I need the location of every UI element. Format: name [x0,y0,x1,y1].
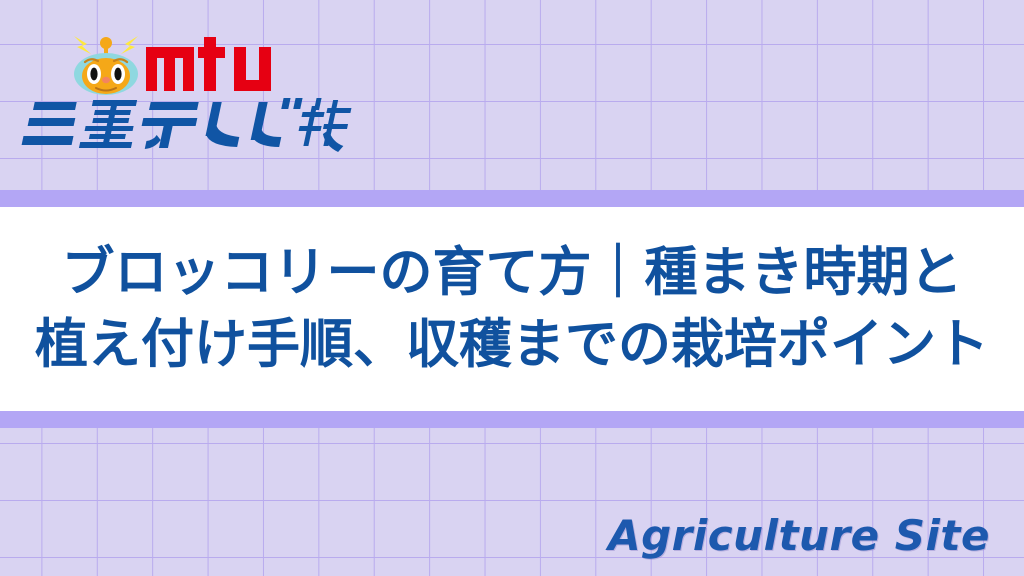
thumbnail-canvas: ブロッコリーの育て方｜種まき時期と 植え付け手順、収穫までの栽培ポイント Agr… [0,0,1024,576]
site-name-label: Agriculture Site [608,511,990,560]
logo-row [68,22,294,96]
station-name-logotype [20,96,380,152]
accent-band-bottom [0,411,1024,428]
mtv-wordmark-icon [146,37,294,91]
page-title-line-2: 植え付け手順、収穫までの栽培ポイント [35,309,989,381]
page-title-line-1: ブロッコリーの育て方｜種まき時期と [62,237,963,309]
bee-mascot-icon [68,22,144,96]
broadcaster-logo-block [0,0,1024,190]
accent-band-top [0,190,1024,207]
title-panel: ブロッコリーの育て方｜種まき時期と 植え付け手順、収穫までの栽培ポイント [0,207,1024,411]
